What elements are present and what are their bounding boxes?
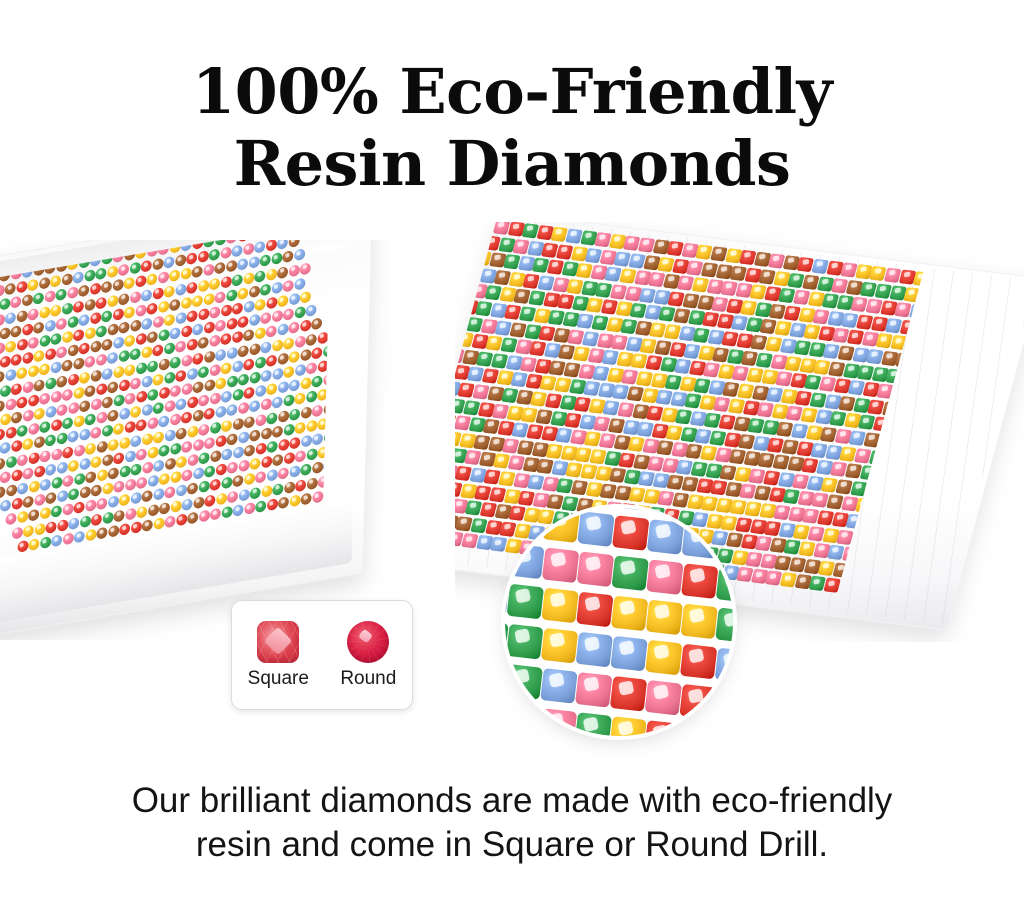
drill-round <box>40 507 51 520</box>
drill-round <box>199 481 210 494</box>
drill-round <box>267 440 278 453</box>
drill-round <box>289 350 300 363</box>
drill-round <box>227 375 238 388</box>
drill-round <box>266 297 277 310</box>
legend-item-square[interactable]: Square <box>248 621 309 690</box>
drill-round <box>17 482 28 495</box>
drill-round <box>158 271 169 284</box>
drill-round <box>50 333 61 346</box>
drill-round <box>102 482 113 495</box>
drill-square <box>506 624 543 660</box>
drill-round <box>142 461 153 474</box>
drill-round <box>192 294 203 307</box>
drill-round <box>295 479 306 492</box>
drill-round <box>51 505 62 518</box>
drill-round <box>255 442 266 455</box>
drill-round <box>221 304 232 317</box>
drill-round <box>255 298 266 311</box>
drill-round <box>278 467 289 480</box>
drill-square <box>456 282 474 297</box>
drill-round <box>232 331 243 344</box>
headline-line-1: 100% Eco-Friendly <box>192 55 832 128</box>
drill-round <box>57 461 68 474</box>
drill-round <box>45 348 56 361</box>
drill-round <box>74 444 85 457</box>
drill-round <box>266 268 277 281</box>
drill-round <box>158 358 169 371</box>
drill-round <box>62 446 73 459</box>
drill-round <box>33 350 44 363</box>
drill-round <box>220 247 231 260</box>
drill-round <box>192 323 203 336</box>
drill-round <box>119 379 130 392</box>
drill-round <box>238 488 249 501</box>
drill-round <box>125 507 136 520</box>
drill-round <box>119 465 130 478</box>
drill-round <box>254 241 265 254</box>
drill-round <box>249 314 260 327</box>
drill-round <box>23 467 34 480</box>
drill-round <box>244 387 255 400</box>
drill-round <box>135 304 146 317</box>
drill-round <box>80 515 91 528</box>
drill-round <box>0 342 5 355</box>
drill-round <box>170 500 181 513</box>
drill-round <box>119 436 130 449</box>
drill-round <box>164 371 175 384</box>
drill-round <box>158 386 169 399</box>
drill-round <box>210 392 221 405</box>
drill-round <box>130 291 141 304</box>
drill-round <box>250 486 261 499</box>
drill-round <box>141 260 152 273</box>
drill-round <box>233 475 244 488</box>
drill-round <box>312 490 323 503</box>
drill-round <box>91 455 102 468</box>
drill-round <box>28 480 39 493</box>
drill-round <box>176 484 187 497</box>
legend-items: Square Round <box>232 601 412 709</box>
drill-round <box>0 457 5 470</box>
drill-round <box>51 419 62 432</box>
drill-round <box>79 285 90 298</box>
drill-round <box>45 405 56 418</box>
drill-round <box>11 382 22 395</box>
drill-round <box>243 272 254 285</box>
magnifier-drill-field <box>505 508 733 736</box>
drill-round <box>237 287 248 300</box>
drill-round <box>68 517 79 530</box>
drill-square <box>613 508 650 511</box>
drill-round <box>91 484 102 497</box>
drill-round <box>261 427 272 440</box>
drill-round <box>90 369 101 382</box>
drill-round <box>198 452 209 465</box>
drill-round <box>204 494 215 507</box>
drill-round <box>312 404 323 417</box>
drill-square <box>611 555 648 591</box>
drill-round <box>28 509 39 522</box>
drill-square <box>505 664 542 700</box>
drill-square <box>574 712 611 736</box>
drill-round <box>107 323 118 336</box>
drill-round <box>113 394 124 407</box>
drill-round <box>79 400 90 413</box>
drill-round <box>226 260 237 273</box>
drill-round <box>198 279 209 292</box>
drill-round <box>272 454 283 467</box>
drill-round <box>68 488 79 501</box>
drill-square <box>609 716 646 736</box>
drill-round <box>187 367 198 380</box>
drill-round <box>107 266 118 279</box>
drill-round <box>169 269 180 282</box>
drill-square <box>577 511 614 547</box>
drill-round <box>11 354 22 367</box>
drill-round <box>249 400 260 413</box>
drill-round <box>261 369 272 382</box>
drill-round <box>108 496 119 509</box>
drill-round <box>317 331 328 344</box>
drill-round <box>306 448 317 461</box>
drill-round <box>312 375 323 388</box>
drill-round <box>192 352 203 365</box>
drill-round <box>266 412 277 425</box>
drill-square <box>717 508 733 523</box>
drill-round <box>238 431 249 444</box>
drill-round <box>40 450 51 463</box>
drill-round <box>68 402 79 415</box>
square-drill-magnifier-inset <box>505 508 733 736</box>
drill-round <box>232 417 243 430</box>
drill-round <box>10 296 21 309</box>
drill-round <box>243 358 254 371</box>
drill-round <box>147 446 158 459</box>
drill-round <box>142 404 153 417</box>
drill-round <box>294 249 305 262</box>
drill-round <box>16 338 27 351</box>
drill-round <box>91 427 102 440</box>
drill-round <box>102 396 113 409</box>
drill-round <box>170 442 181 455</box>
drill-round <box>266 240 277 252</box>
drill-round <box>153 402 164 415</box>
drill-round <box>260 254 271 267</box>
drill-round <box>39 306 50 319</box>
drill-round <box>62 388 73 401</box>
drill-round <box>0 442 11 455</box>
drill-round <box>142 490 153 503</box>
drill-round <box>306 362 317 375</box>
drill-square <box>576 592 613 628</box>
drill-round <box>33 321 44 334</box>
drill-round <box>186 281 197 294</box>
drill-round <box>186 310 197 323</box>
drill-round <box>215 348 226 361</box>
drill-round <box>125 478 136 491</box>
drill-round <box>215 262 226 275</box>
drill-round <box>215 406 226 419</box>
drill-square <box>680 644 717 680</box>
drill-round <box>118 264 129 277</box>
drill-round <box>221 390 232 403</box>
drill-round <box>27 279 38 292</box>
drill-round <box>56 317 67 330</box>
legend-label-round: Round <box>340 668 396 690</box>
drill-square <box>576 632 613 668</box>
drill-round <box>5 369 16 382</box>
drill-round <box>272 339 283 352</box>
drill-round <box>289 437 300 450</box>
poster-canvas: 100% Eco-Friendly Resin Diamonds Square … <box>0 0 1024 923</box>
drill-round <box>266 354 277 367</box>
drill-round <box>277 323 288 336</box>
drill-round <box>101 310 112 323</box>
drill-round <box>85 442 96 455</box>
drill-round <box>295 364 306 377</box>
drill-round <box>22 352 33 365</box>
drill-round <box>203 293 214 306</box>
drill-round <box>17 425 28 438</box>
drill-square <box>577 551 614 587</box>
drill-round <box>113 279 124 292</box>
drill-round <box>176 456 187 469</box>
drill-round <box>204 436 215 449</box>
drill-square <box>610 636 647 672</box>
drill-round <box>22 438 33 451</box>
drill-round <box>170 327 181 340</box>
drill-round <box>301 492 312 505</box>
drill-round <box>237 240 248 242</box>
drill-round <box>73 271 84 284</box>
drill-round <box>238 373 249 386</box>
drill-round <box>28 423 39 436</box>
drill-round <box>136 390 147 403</box>
drill-square <box>542 508 579 543</box>
drill-round <box>198 423 209 436</box>
drill-round <box>238 402 249 415</box>
drill-round <box>221 333 232 346</box>
drill-round <box>84 298 95 311</box>
drill-round <box>45 377 56 390</box>
drill-round <box>108 524 119 537</box>
drill-round <box>56 288 67 301</box>
drill-round <box>187 396 198 409</box>
drill-round <box>277 295 288 308</box>
drill-round <box>175 312 186 325</box>
drill-round <box>164 457 175 470</box>
drill-round <box>220 275 231 288</box>
drill-round <box>152 258 163 271</box>
drill-round <box>170 471 181 484</box>
drill-square <box>508 508 545 539</box>
drill-round <box>28 308 39 321</box>
drill-round <box>238 344 249 357</box>
drill-round <box>90 398 101 411</box>
drill-round <box>153 344 164 357</box>
legend-label-square: Square <box>248 668 309 690</box>
drill-round <box>165 515 176 528</box>
drill-round <box>164 342 175 355</box>
drill-round <box>34 465 45 478</box>
drill-round <box>158 329 169 342</box>
drill-round <box>107 381 118 394</box>
drill-round <box>68 373 79 386</box>
legend-item-round[interactable]: Round <box>340 621 396 690</box>
drill-round <box>45 463 56 476</box>
drill-round <box>233 446 244 459</box>
drill-square <box>644 720 681 736</box>
drill-round <box>300 406 311 419</box>
drill-round <box>96 354 107 367</box>
drill-round <box>131 492 142 505</box>
drill-round <box>73 358 84 371</box>
drill-round <box>0 371 5 384</box>
drill-square <box>714 728 733 736</box>
drill-round <box>79 342 90 355</box>
drill-round <box>159 444 170 457</box>
drill-round <box>79 313 90 326</box>
drill-round <box>28 336 39 349</box>
drill-round <box>271 281 282 294</box>
drill-round <box>165 486 176 499</box>
drill-round <box>73 329 84 342</box>
drill-round <box>57 519 68 532</box>
drill-round <box>153 373 164 386</box>
drill-round <box>198 308 209 321</box>
drill-round <box>113 308 124 321</box>
drill-round <box>124 335 135 348</box>
drill-round <box>0 499 11 512</box>
drill-round <box>73 300 84 313</box>
drill-round <box>102 511 113 524</box>
drill-round <box>51 361 62 374</box>
drill-round <box>283 366 294 379</box>
drill-round <box>267 469 278 482</box>
drill-round <box>260 341 271 354</box>
drill-round <box>39 277 50 290</box>
drill-round <box>193 438 204 451</box>
drill-round <box>277 240 288 250</box>
drill-round <box>22 409 33 422</box>
drill-round <box>198 250 209 263</box>
drill-round <box>51 448 62 461</box>
drill-round <box>312 462 323 475</box>
drill-round <box>250 458 261 471</box>
drill-round <box>141 289 152 302</box>
drill-round <box>130 348 141 361</box>
drill-round <box>142 432 153 445</box>
drill-round <box>255 385 266 398</box>
drill-round <box>209 306 220 319</box>
drill-round <box>227 490 238 503</box>
drill-round <box>141 346 152 359</box>
drill-round <box>294 335 305 348</box>
drill-square <box>714 688 733 724</box>
drill-square <box>645 680 682 716</box>
drill-square <box>540 708 577 736</box>
drill-round <box>300 377 311 390</box>
drill-round <box>136 361 147 374</box>
drill-round <box>0 327 10 340</box>
drill-round <box>198 365 209 378</box>
drill-round <box>113 337 124 350</box>
drill-round <box>226 346 237 359</box>
drill-round <box>164 256 175 269</box>
drill-round <box>40 478 51 491</box>
drill-round <box>101 281 112 294</box>
drill-round <box>0 413 11 426</box>
drill-round <box>227 433 238 446</box>
drill-round <box>181 268 192 281</box>
drill-round <box>39 421 50 434</box>
drill-round <box>244 415 255 428</box>
drill-round <box>181 296 192 309</box>
drill-square <box>715 648 733 684</box>
drill-round <box>6 455 17 468</box>
drill-round <box>79 486 90 499</box>
drill-round <box>114 509 125 522</box>
drill-round <box>210 421 221 434</box>
round-gem-icon <box>347 621 389 663</box>
drill-round <box>85 384 96 397</box>
drill-square <box>680 604 717 640</box>
drill-round <box>22 294 33 307</box>
drill-round <box>95 267 106 280</box>
drill-round <box>232 245 243 258</box>
drill-round <box>29 538 40 551</box>
caption-line-2: resin and come in Square or Round Drill. <box>0 823 1024 867</box>
drill-round <box>67 287 78 300</box>
drill-round <box>295 392 306 405</box>
drill-round <box>34 522 45 535</box>
drill-round <box>153 459 164 472</box>
drill-round <box>164 314 175 327</box>
drill-round <box>28 394 39 407</box>
drill-round <box>283 250 294 263</box>
drill-round <box>261 456 272 469</box>
drill-round <box>181 354 192 367</box>
drill-round <box>283 308 294 321</box>
drill-round <box>62 331 73 344</box>
drill-round <box>159 502 170 515</box>
drill-round <box>289 321 300 334</box>
drill-round <box>74 501 85 514</box>
drill-round <box>79 371 90 384</box>
drill-round <box>289 494 300 507</box>
drill-round <box>272 425 283 438</box>
drill-round <box>306 419 317 432</box>
drill-square <box>612 515 649 551</box>
drill-round <box>182 469 193 482</box>
drill-round <box>118 292 129 305</box>
drill-round <box>221 362 232 375</box>
drill-round <box>147 417 158 430</box>
drill-square <box>646 559 683 595</box>
drill-round <box>34 494 45 507</box>
drill-round <box>17 396 28 409</box>
drill-round <box>141 317 152 330</box>
drill-round <box>113 365 124 378</box>
drill-round <box>283 337 294 350</box>
drill-round <box>0 428 5 441</box>
drill-round <box>278 410 289 423</box>
drill-round <box>17 540 28 553</box>
drill-round <box>209 364 220 377</box>
drill-round <box>306 391 317 404</box>
drill-round <box>227 404 238 417</box>
drill-round <box>125 450 136 463</box>
